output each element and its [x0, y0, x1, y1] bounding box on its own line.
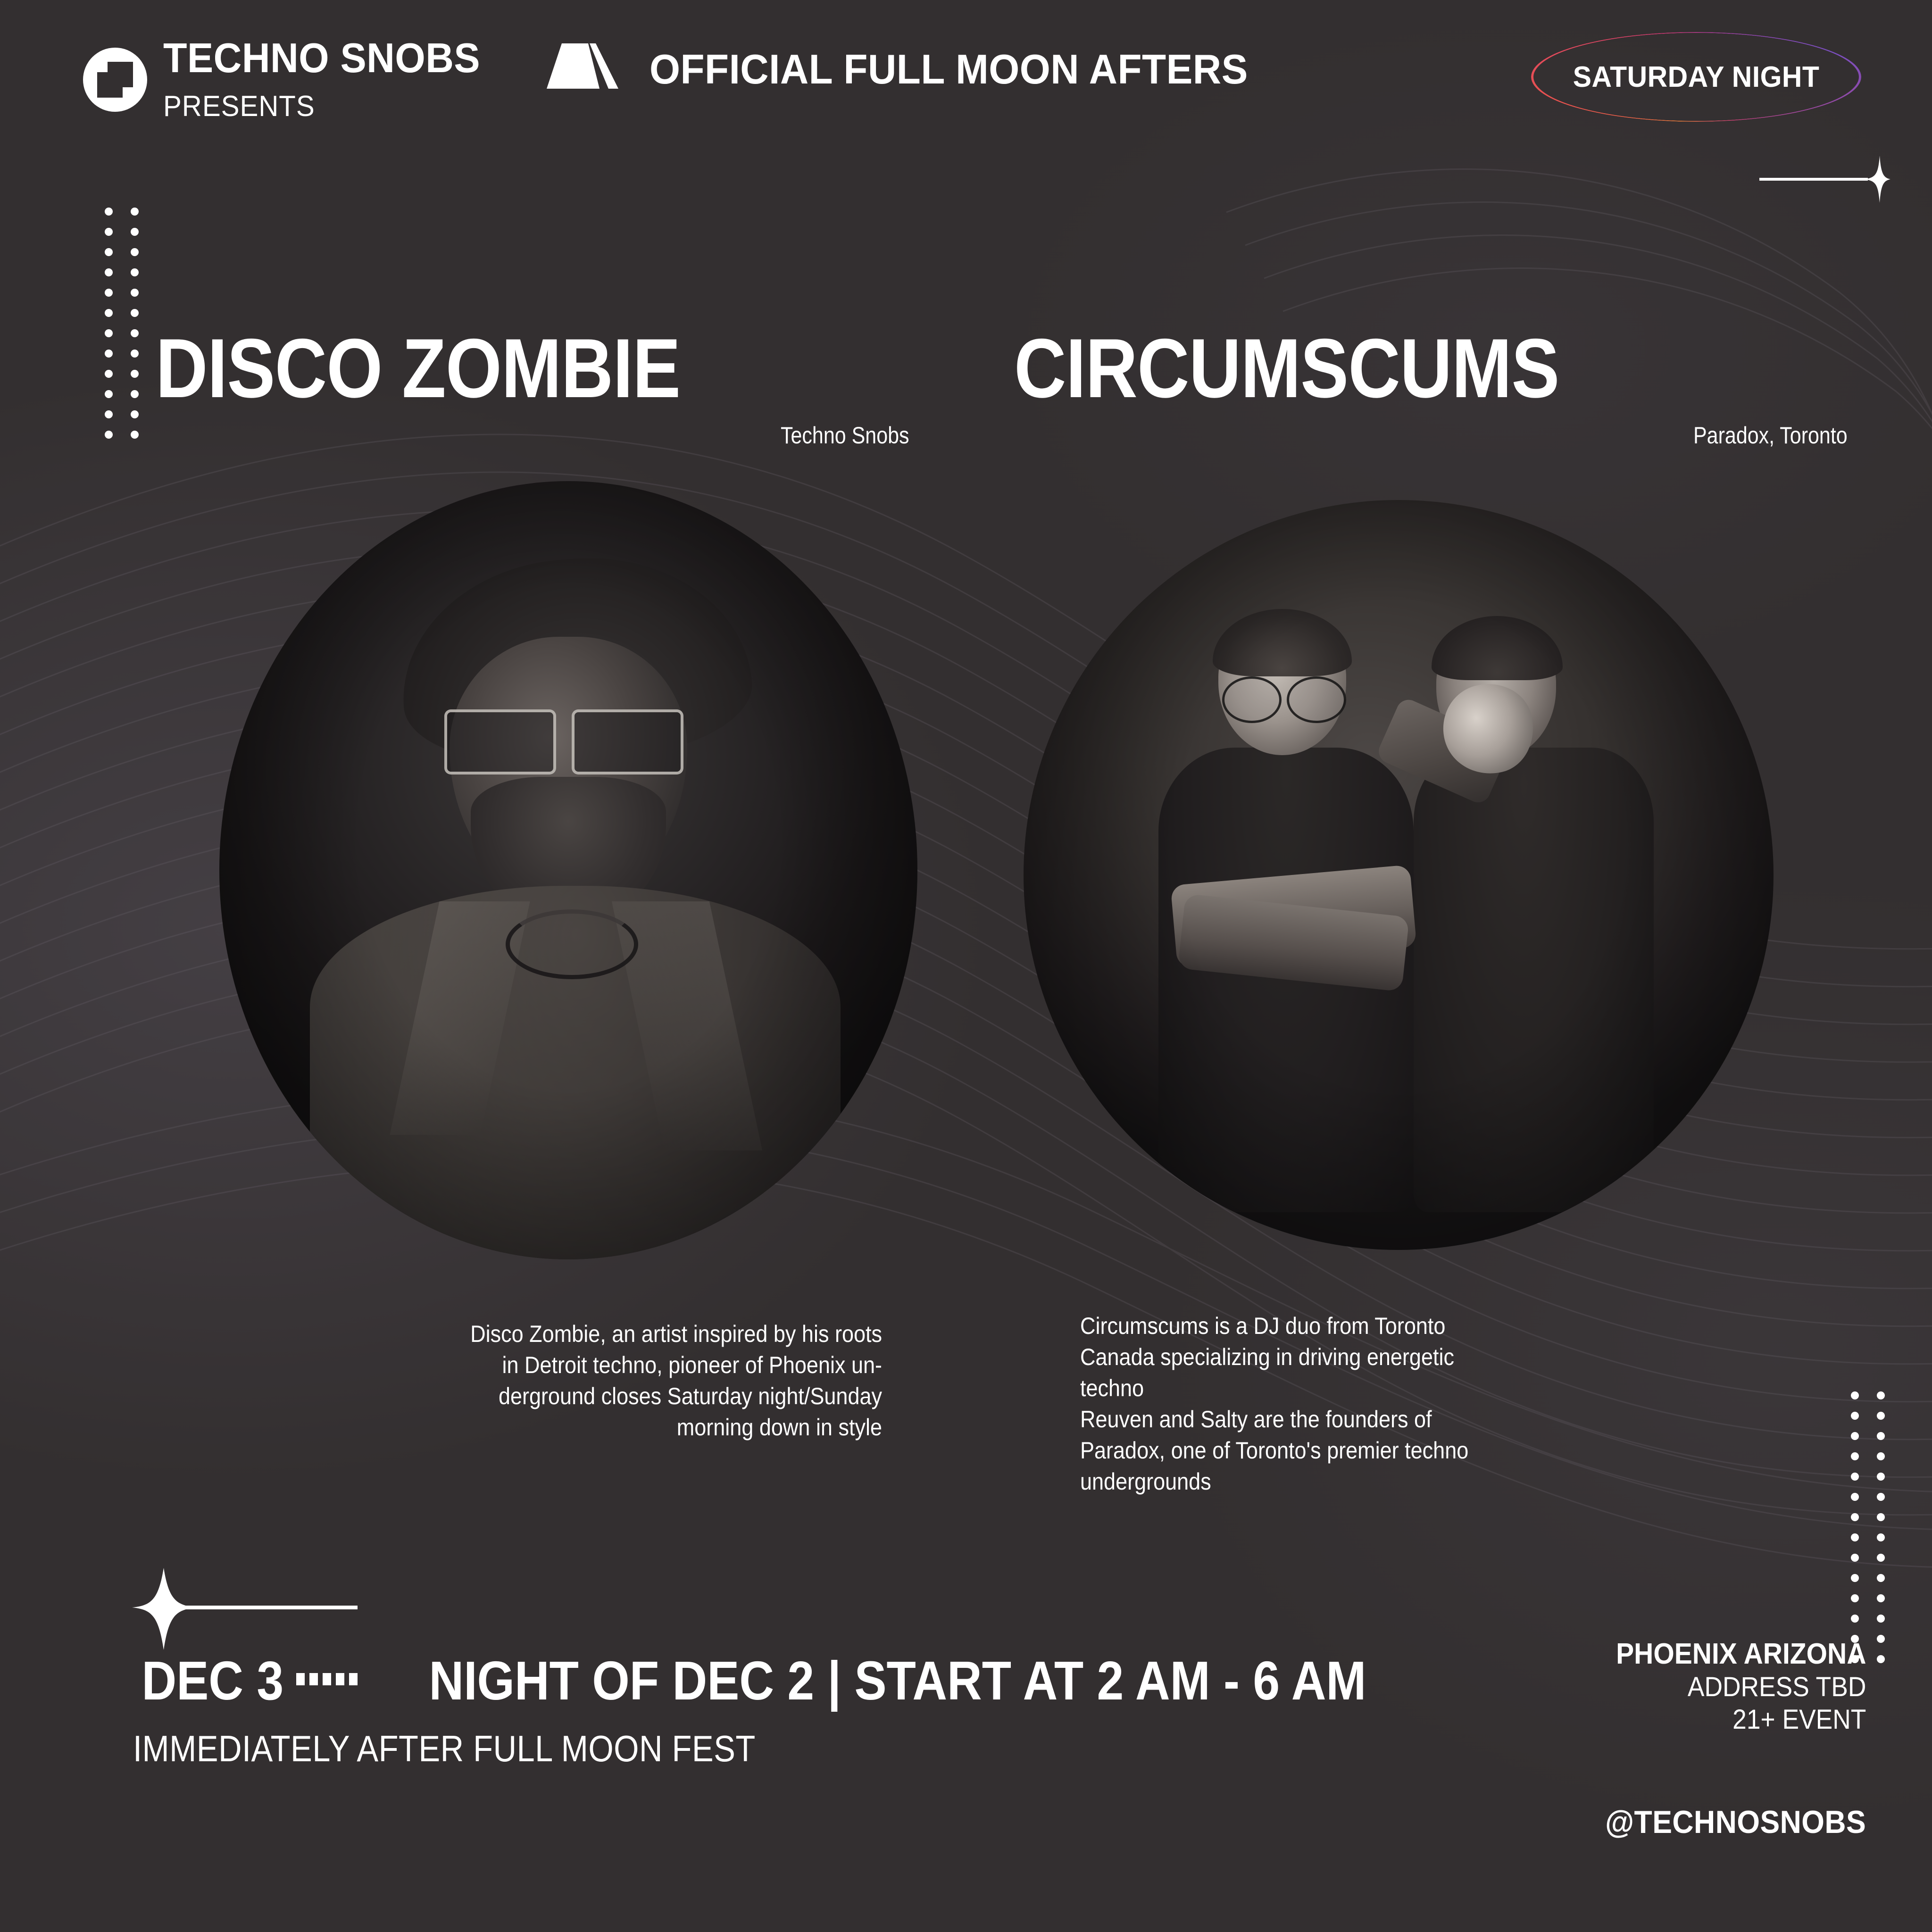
saturday-night-badge: SATURDAY NIGHT [1531, 32, 1861, 122]
photo-inner-circumscums [1024, 500, 1774, 1250]
date-detail: NIGHT OF DEC 2 | START AT 2 AM - 6 AM [429, 1649, 1366, 1712]
sparkle-top-right-icon [1759, 151, 1891, 210]
artist-name-disco-zombie: DISCO ZOMBIE [156, 326, 680, 410]
brand-text-block: TECHNO SNOBS PRESENTS [163, 37, 500, 123]
dot-grid-right [1851, 1391, 1885, 1663]
social-handle[interactable]: @TECHNOSNOBS [1605, 1804, 1866, 1840]
techno-snobs-logo-icon [83, 48, 147, 112]
logo-square-lower [97, 72, 123, 98]
sparkle-bottom-left-icon [126, 1562, 362, 1659]
venue-block: PHOENIX ARIZONA ADDRESS TBD 21+ EVENT [1594, 1637, 1866, 1736]
venue-city: PHOENIX ARIZONA [1616, 1637, 1866, 1671]
duo-vignette [1024, 500, 1774, 1250]
artist-names-row: DISCO ZOMBIE Techno Snobs CIRCUMSCUMS Pa… [0, 317, 1932, 458]
artist-bio-disco-zombie: Disco Zombie, an artist inspired by his … [343, 1318, 882, 1443]
brand-name: TECHNO SNOBS [163, 37, 480, 79]
photo-inner-disco-zombie [219, 481, 917, 1259]
artist-bio-circumscums: Circumscums is a DJ duo from Toronto Can… [1080, 1310, 1615, 1497]
footer-date-line: DEC 3 NIGHT OF DEC 2 | START AT 2 AM - 6… [132, 1649, 1430, 1712]
artist-affiliation-circumscums: Paradox, Toronto [1693, 422, 1848, 449]
mountain-slash-icon [543, 43, 618, 89]
event-tagline: OFFICIAL FULL MOON AFTERS [650, 45, 1248, 93]
artist-lineup: DISCO ZOMBIE Techno Snobs CIRCUMSCUMS Pa… [0, 317, 1932, 458]
venue-address: ADDRESS TBD [1616, 1671, 1866, 1703]
artist-photo-circumscums [1024, 500, 1774, 1250]
event-poster: TECHNO SNOBS PRESENTS OFFICIAL FULL MOON… [0, 0, 1932, 1932]
portrait-vignette [219, 481, 917, 1259]
artist-affiliation-disco-zombie: Techno Snobs [781, 422, 909, 449]
footer-subline: IMMEDIATELY AFTER FULL MOON FEST [133, 1727, 756, 1770]
saturday-night-label: SATURDAY NIGHT [1573, 60, 1820, 94]
artist-name-circumscums: CIRCUMSCUMS [1014, 326, 1559, 410]
dash-separator-icon [296, 1673, 358, 1685]
presents-label: PRESENTS [163, 90, 480, 123]
date-primary: DEC 3 [142, 1649, 283, 1712]
artist-photo-disco-zombie [219, 481, 917, 1259]
age-policy: 21+ EVENT [1616, 1704, 1866, 1736]
